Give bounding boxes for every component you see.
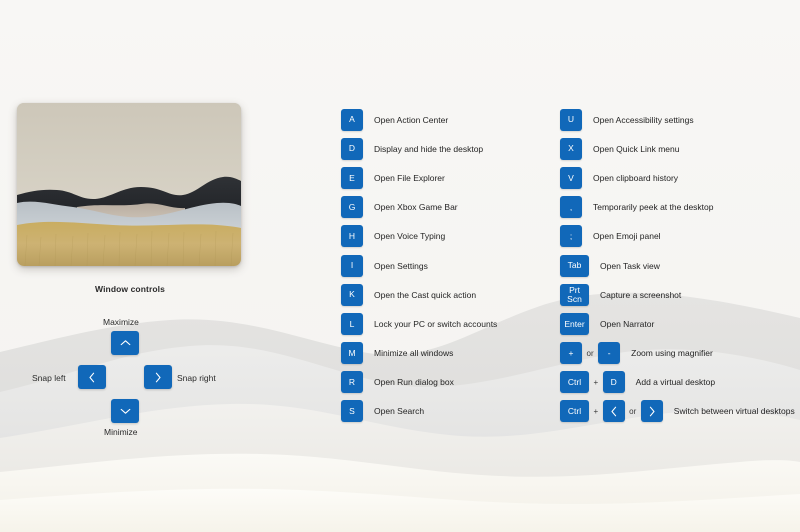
key-combo: I xyxy=(341,255,363,277)
key-cap[interactable]: U xyxy=(560,109,582,131)
wallpaper-thumbnail xyxy=(17,103,241,266)
shortcut-description: Open the Cast quick action xyxy=(374,290,476,300)
key-combo: G xyxy=(341,196,363,218)
shortcut-description: Temporarily peek at the desktop xyxy=(593,202,713,212)
key-cap[interactable]: - xyxy=(598,342,620,364)
key-cap[interactable]: Enter xyxy=(560,313,589,335)
chevron-right-icon[interactable] xyxy=(144,365,172,389)
key-combo: Enter xyxy=(560,313,589,335)
window-controls-panel: Window controls Maximize Snap left Snap … xyxy=(0,0,300,532)
shortcut-row: EOpen File Explorer xyxy=(341,163,551,192)
chevron-up-icon[interactable] xyxy=(111,331,139,355)
shortcut-row: MMinimize all windows xyxy=(341,339,551,368)
shortcut-description: Open Quick Link menu xyxy=(593,144,679,154)
key-cap[interactable]: Tab xyxy=(560,255,589,277)
key-cap[interactable]: I xyxy=(341,255,363,277)
key-cap[interactable]: A xyxy=(341,109,363,131)
key-cap[interactable]: X xyxy=(560,138,582,160)
shortcut-row: IOpen Settings xyxy=(341,251,551,280)
shortcut-row: DDisplay and hide the desktop xyxy=(341,134,551,163)
key-cap[interactable]: , xyxy=(560,196,582,218)
key-cap[interactable]: K xyxy=(341,284,363,306)
key-cap[interactable]: M xyxy=(341,342,363,364)
key-cap[interactable]: D xyxy=(603,371,625,393)
snap-right-label: Snap right xyxy=(177,373,216,383)
key-cap[interactable]: G xyxy=(341,196,363,218)
shortcut-description: Zoom using magnifier xyxy=(631,348,713,358)
key-combo: D xyxy=(341,138,363,160)
shortcut-description: Open Narrator xyxy=(600,319,654,329)
key-cap[interactable]: Ctrl xyxy=(560,371,589,393)
snap-left-label: Snap left xyxy=(32,373,66,383)
shortcut-description: Display and hide the desktop xyxy=(374,144,483,154)
shortcut-description: Open Accessibility settings xyxy=(593,115,694,125)
shortcut-description: Open Emoji panel xyxy=(593,231,661,241)
key-cap[interactable]: S xyxy=(341,400,363,422)
key-separator: + xyxy=(589,378,603,387)
shortcut-row: Ctrl+DAdd a virtual desktop xyxy=(560,368,800,397)
shortcut-description: Open Voice Typing xyxy=(374,231,445,241)
shortcut-description: Minimize all windows xyxy=(374,348,453,358)
shortcut-description: Capture a screenshot xyxy=(600,290,681,300)
shortcut-row: VOpen clipboard history xyxy=(560,163,800,192)
key-cap[interactable]: Ctrl xyxy=(560,400,589,422)
key-cap[interactable]: D xyxy=(341,138,363,160)
key-separator: + xyxy=(589,407,603,416)
key-combo: L xyxy=(341,313,363,335)
key-combo: Prt Scn xyxy=(560,284,589,306)
shortcut-row: EnterOpen Narrator xyxy=(560,309,800,338)
shortcut-row: SOpen Search xyxy=(341,397,551,426)
shortcut-row: LLock your PC or switch accounts xyxy=(341,309,551,338)
chevron-right-icon[interactable] xyxy=(641,400,663,422)
shortcut-description: Open Xbox Game Bar xyxy=(374,202,458,212)
key-cap[interactable]: + xyxy=(560,342,582,364)
shortcut-row: HOpen Voice Typing xyxy=(341,222,551,251)
key-combo: K xyxy=(341,284,363,306)
key-cap[interactable]: H xyxy=(341,225,363,247)
shortcut-list-right: UOpen Accessibility settingsXOpen Quick … xyxy=(560,105,800,426)
key-combo: S xyxy=(341,400,363,422)
key-combo: V xyxy=(560,167,582,189)
key-combo: M xyxy=(341,342,363,364)
key-combo: Tab xyxy=(560,255,589,277)
shortcut-description: Open Task view xyxy=(600,261,660,271)
shortcut-row: +or-Zoom using magnifier xyxy=(560,339,800,368)
minimize-label: Minimize xyxy=(104,427,138,437)
chevron-left-icon[interactable] xyxy=(603,400,625,422)
shortcut-row: TabOpen Task view xyxy=(560,251,800,280)
shortcut-list-left: AOpen Action CenterDDisplay and hide the… xyxy=(341,105,551,426)
shortcut-row: ,Temporarily peek at the desktop xyxy=(560,193,800,222)
shortcut-row: ROpen Run dialog box xyxy=(341,368,551,397)
key-cap[interactable]: R xyxy=(341,371,363,393)
shortcut-row: AOpen Action Center xyxy=(341,105,551,134)
shortcut-row: ;Open Emoji panel xyxy=(560,222,800,251)
shortcut-description: Open Search xyxy=(374,406,424,416)
key-cap[interactable]: E xyxy=(341,167,363,189)
key-cap[interactable]: Prt Scn xyxy=(560,284,589,306)
key-combo: R xyxy=(341,371,363,393)
key-combo: X xyxy=(560,138,582,160)
shortcut-row: Prt ScnCapture a screenshot xyxy=(560,280,800,309)
key-cap[interactable]: V xyxy=(560,167,582,189)
key-separator: or xyxy=(582,349,598,358)
shortcut-description: Open clipboard history xyxy=(593,173,678,183)
shortcut-description: Open Run dialog box xyxy=(374,377,454,387)
key-combo: E xyxy=(341,167,363,189)
shortcut-row: GOpen Xbox Game Bar xyxy=(341,193,551,222)
window-controls-title: Window controls xyxy=(0,284,260,294)
shortcut-row: Ctrl+orSwitch between virtual desktops xyxy=(560,397,800,426)
key-separator: or xyxy=(625,407,641,416)
shortcut-description: Open Action Center xyxy=(374,115,448,125)
key-cap[interactable]: L xyxy=(341,313,363,335)
shortcut-description: Open Settings xyxy=(374,261,428,271)
key-cap[interactable]: ; xyxy=(560,225,582,247)
shortcut-row: XOpen Quick Link menu xyxy=(560,134,800,163)
shortcut-description: Open File Explorer xyxy=(374,173,445,183)
shortcut-description: Switch between virtual desktops xyxy=(674,406,795,416)
shortcut-description: Add a virtual desktop xyxy=(636,377,715,387)
shortcut-row: UOpen Accessibility settings xyxy=(560,105,800,134)
key-combo: , xyxy=(560,196,582,218)
key-combo: H xyxy=(341,225,363,247)
maximize-label: Maximize xyxy=(103,317,139,327)
chevron-left-icon[interactable] xyxy=(78,365,106,389)
key-combo: Ctrl+D xyxy=(560,371,625,393)
chevron-down-icon[interactable] xyxy=(111,399,139,423)
key-combo: U xyxy=(560,109,582,131)
key-combo: +or- xyxy=(560,342,620,364)
arrow-key-cluster: Maximize Snap left Snap right xyxy=(36,313,236,438)
key-combo: Ctrl+or xyxy=(560,400,663,422)
key-combo: ; xyxy=(560,225,582,247)
shortcut-row: KOpen the Cast quick action xyxy=(341,280,551,309)
shortcut-description: Lock your PC or switch accounts xyxy=(374,319,497,329)
key-combo: A xyxy=(341,109,363,131)
